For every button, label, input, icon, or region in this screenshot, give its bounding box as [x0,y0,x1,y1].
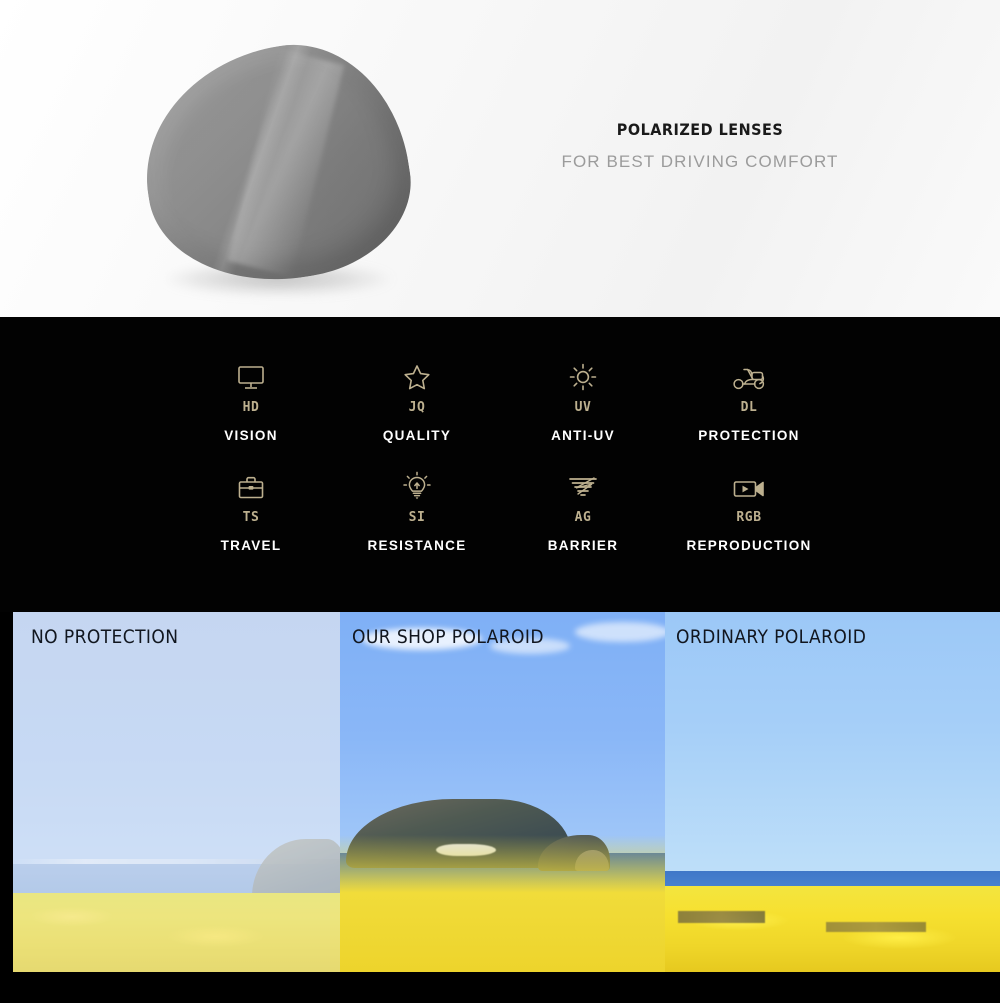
hero-text-block: POLARIZED LENSES FOR BEST DRIVING COMFOR… [520,118,880,174]
panel-label: ORDINARY POLAROID [676,626,866,648]
panel-scrub [678,911,765,924]
video-camera-icon [732,465,766,501]
feature-row-1: HD VISION JQ QUALITY [0,355,1000,443]
left-gutter [0,612,13,972]
star-icon [403,355,431,391]
feature-label: BARRIER [548,538,619,553]
feature-abbr: SI [409,510,426,525]
panel-scrub [826,922,927,933]
panel-cloud [575,622,665,642]
feature-item-protection: DL PROTECTION [666,355,832,443]
panel-glare-haze [13,612,340,972]
feature-abbr: UV [575,400,592,415]
feature-row-2: TS TRAVEL SI RESISTANCE [0,465,1000,553]
comparison-section: NO PROTECTION OUR SHOP POLAROID ORDINARY… [0,612,1000,972]
feature-item-quality: JQ QUALITY [334,355,500,443]
lens-shape [128,29,423,299]
hero-subtitle: FOR BEST DRIVING COMFORT [520,150,880,174]
feature-label: RESISTANCE [367,538,466,553]
lightbulb-icon [402,465,432,501]
feature-abbr: AG [575,510,592,525]
scooter-icon [731,355,767,391]
feature-item-reproduction: RGB REPRODUCTION [666,465,832,553]
feature-item-vision: HD VISION [168,355,334,443]
feature-label: TRAVEL [221,538,282,553]
feature-abbr: RGB [736,510,761,525]
lens-product-image [135,40,415,300]
feature-item-resistance: SI RESISTANCE [334,465,500,553]
features-section: HD VISION JQ QUALITY [0,317,1000,612]
feature-label: ANTI-UV [551,428,615,443]
panel-sky [665,612,1000,875]
sun-icon [569,355,597,391]
hero-title: POLARIZED LENSES [520,118,880,142]
feature-label: VISION [224,428,278,443]
comparison-panel-no-protection: NO PROTECTION [13,612,340,972]
feature-abbr: TS [243,510,260,525]
panel-label: NO PROTECTION [31,626,178,648]
feature-label: QUALITY [383,428,451,443]
feature-abbr: HD [243,400,260,415]
feature-abbr: JQ [409,400,426,415]
comparison-panel-our-shop-polaroid: OUR SHOP POLAROID [340,612,665,972]
briefcase-icon [237,465,265,501]
feature-label: PROTECTION [698,428,800,443]
hero-section: POLARIZED LENSES FOR BEST DRIVING COMFOR… [0,0,1000,317]
feature-abbr: DL [741,400,758,415]
feature-label: REPRODUCTION [686,538,811,553]
feature-item-anti-uv: UV ANTI-UV [500,355,666,443]
monitor-icon [236,355,266,391]
wind-icon [567,465,599,501]
panel-flowers-foreground [340,835,665,972]
comparison-panel-ordinary-polaroid: ORDINARY POLAROID [665,612,1000,972]
panel-label: OUR SHOP POLAROID [352,626,544,648]
feature-item-barrier: AG BARRIER [500,465,666,553]
bottom-bar [0,972,1000,1003]
feature-item-travel: TS TRAVEL [168,465,334,553]
